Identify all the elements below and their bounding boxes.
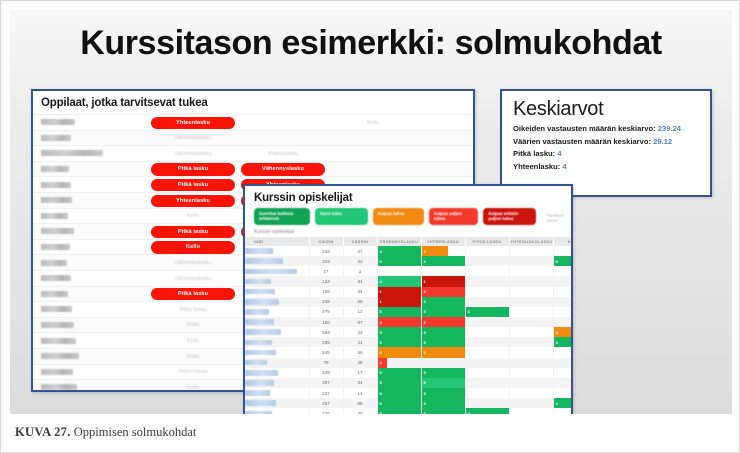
grade-bar: 5 [422,398,465,408]
table-row[interactable]: 1344441 [245,276,573,286]
student-name-redacted [41,353,79,359]
students-panel: Kurssin opiskelijat Suoritus kaikista te… [243,184,573,414]
filter-button[interactable]: Kaipaa tukea [373,208,424,225]
grade-bar: 5 [378,337,421,347]
grade-cell [465,327,509,337]
support-topic-badge: Pitkä lasku [151,179,235,191]
support-topic-badge: Vähennyslasku [241,163,325,175]
support-topic-badge: Yhteenlasku [151,117,235,129]
support-topic-cell[interactable]: Pitkä lasku [151,288,235,301]
grade-bar: 5 [554,256,574,266]
student-name-redacted [245,380,274,386]
grade-bar [554,246,556,256]
support-topic-cell: Vähennyslasku [151,148,235,161]
student-name-redacted [245,258,283,264]
average-value: 29.12 [653,137,672,146]
support-topic-badge: Kello [151,241,235,253]
grade-cell: 5 [421,307,465,317]
student-name-cell[interactable] [245,297,309,307]
grade-bar: 3 [422,347,465,357]
grade-cell: 4 [421,297,465,307]
filter-button[interactable]: Hyvä tulos [315,208,368,225]
student-name-redacted [245,248,273,254]
grade-cell: 4 [465,307,509,317]
correct-count-cell: 285 [309,337,343,347]
support-topic-badge: Pitkä lasku [151,163,235,175]
grade-bar [554,358,556,368]
table-row[interactable]: 1506722 [245,317,573,327]
grade-bar: 5 [378,388,421,398]
student-name-cell[interactable] [245,388,309,398]
grade-bar [466,256,468,266]
grade-bar: 5 [422,327,465,337]
grade-bar [466,368,468,378]
table-row[interactable]: 173 [245,266,573,276]
average-line: Yhteenlasku: 4 [502,161,710,174]
correct-count-cell: 242 [309,246,343,256]
grade-bar [554,266,556,276]
grade-cell [509,408,553,414]
support-topic-badge: Pitkä lasku [151,288,235,300]
figure-number: KUVA 27. [15,425,71,439]
student-name-redacted [245,329,281,335]
correct-count-cell: 276 [309,408,343,414]
grade-bar [510,307,512,317]
grade-cell: 4 [421,256,465,266]
grade-bar [510,266,512,276]
grade-cell [465,317,509,327]
table-row[interactable]: 2422743 [245,246,573,256]
student-name-cell[interactable] [245,327,309,337]
grade-bar: 5 [378,307,421,317]
grade-cell: 5 [377,327,421,337]
student-name-redacted [41,291,68,297]
grade-bar [510,276,512,286]
support-topic-badge: Pitkä lasku [151,226,235,238]
grade-cell: 4 [465,408,509,414]
grade-cell: 2 [421,287,465,297]
grade-cell [509,337,553,347]
correct-count-cell: 279 [309,307,343,317]
table-row[interactable]: 56423553 [245,327,573,337]
table-row[interactable]: 2371455 [245,388,573,398]
average-label: Oikeiden vastausten määrän keskiarvo: [513,124,658,133]
filter-bar-note: Tarvitsee tukea [541,208,571,225]
column-header[interactable]: KELLO [553,237,573,246]
table-row[interactable]: 28511554 [245,337,573,347]
student-name-cell[interactable] [245,317,309,327]
student-name-redacted [41,260,67,266]
grade-cell [465,256,509,266]
grade-cell [553,347,573,357]
grade-bar [510,317,512,327]
student-name-redacted [245,319,274,325]
grade-cell [465,297,509,307]
grade-bar: 3 [378,347,421,357]
grade-bar [510,337,512,347]
table-row[interactable]: 2395914 [245,297,573,307]
grade-cell: 5 [377,307,421,317]
grade-bar: 5 [422,337,465,347]
grade-bar: 5 [422,368,465,378]
student-name-redacted [245,370,278,376]
correct-count-cell: 245 [309,347,343,357]
student-name-cell[interactable] [245,378,309,388]
student-name-redacted [41,306,72,312]
page-title: Kurssitason esimerkki: solmukohdat [10,24,732,63]
table-row[interactable]: 79282 [245,358,573,368]
wrong-count-cell: 3 [343,266,377,276]
support-topic-cell[interactable]: Pitkä lasku [151,179,235,192]
grade-bar [466,297,468,307]
student-name-redacted [41,244,70,250]
support-topic-label: Kello [151,322,235,328]
student-name-cell[interactable] [245,276,309,286]
grade-bar [378,266,380,276]
student-name-redacted [41,338,76,344]
students-table-body: 2422743333225451731344441185441223959142… [245,246,573,414]
grade-bar: 5 [378,398,421,408]
grade-bar [510,297,512,307]
support-topic-label: Yhteenlasku [241,151,325,157]
wrong-count-cell: 44 [343,287,377,297]
grade-bar: 2 [422,287,465,297]
average-label: Pitkä lasku: [513,149,557,158]
student-name-redacted [41,213,68,219]
student-name-redacted [41,182,71,188]
support-row: YhteenlaskuKello [33,114,473,130]
grade-bar [510,408,512,414]
support-topic-cell: Kello [151,210,235,223]
grade-bar [466,327,468,337]
support-topic-cell: Kello [151,319,235,332]
support-topic-cell[interactable]: Yhteenlasku [151,194,235,207]
student-name-cell[interactable] [245,307,309,317]
grade-cell [509,256,553,266]
student-name-redacted [41,275,71,281]
grade-cell [509,327,553,337]
column-header[interactable]: YHTEENLASKU [421,237,465,246]
students-table-header: NIMIOIKEINVÄÄRINVÄHENNYSLASKUYHTEENLASKU… [245,237,573,246]
student-name-cell[interactable] [245,398,309,408]
grade-cell: 5 [377,408,421,414]
correct-count-cell: 79 [309,358,343,368]
grade-cell [509,358,553,368]
grade-bar [510,246,512,256]
grade-bar [554,287,556,297]
grade-bar: 2 [378,358,387,368]
support-row: VähennyslaskuYhteenlasku [33,145,473,161]
column-header[interactable]: OIKEIN [309,237,343,246]
table-row[interactable]: 2673455 [245,378,573,388]
filter-button[interactable]: Suoritus kaikista tehtävistä [254,208,310,225]
grade-bar [510,378,512,388]
grade-bar: 5 [422,388,465,398]
grade-cell: 5 [421,378,465,388]
grade-bar [466,347,468,357]
average-line: Pitkä lasku: 4 [502,148,710,161]
grade-bar: 2 [422,317,465,327]
grade-cell [465,398,509,408]
wrong-count-cell: 23 [343,327,377,337]
grade-cell: 3 [377,347,421,357]
student-name-redacted [245,269,297,275]
grade-cell [509,276,553,286]
grade-cell: 4 [377,276,421,286]
student-name-redacted [41,119,75,125]
student-name-redacted [41,150,103,156]
grade-bar [510,398,512,408]
grade-cell [509,246,553,256]
grade-cell [465,347,509,357]
wrong-count-cell: 28 [343,358,377,368]
grade-bar [466,398,468,408]
support-topic-label: Kello [151,354,235,360]
support-topic-label: Vähennyslasku [151,135,235,141]
grade-bar: 4 [422,256,465,266]
wrong-count-cell: 27 [343,246,377,256]
support-topic-label: Kello [331,120,415,126]
grade-cell [421,358,465,368]
support-topic-cell[interactable]: Pitkä lasku [151,226,235,239]
students-subcaption: Kurssin opiskelijat [245,225,571,237]
support-topic-label: Vähennyslasku [151,260,235,266]
student-name-cell[interactable] [245,246,309,256]
grade-bar: 5 [422,378,465,388]
grade-bar: 3 [554,327,574,337]
grade-cell [465,388,509,398]
grade-cell [465,358,509,368]
student-name-redacted [245,390,270,396]
grade-cell [509,378,553,388]
grade-bar [510,327,512,337]
wrong-count-cell: 17 [343,368,377,378]
grade-cell [553,307,573,317]
student-name-redacted [245,299,279,305]
student-name-redacted [41,228,74,234]
grade-bar: 4 [378,276,421,286]
grade-cell [509,368,553,378]
table-row[interactable]: 26756554 [245,398,573,408]
student-name-cell[interactable] [245,347,309,357]
student-name-cell[interactable] [245,337,309,347]
grade-bar [466,337,468,347]
correct-count-cell: 185 [309,287,343,297]
student-name-cell[interactable] [245,368,309,378]
grade-cell: 5 [377,256,421,266]
support-topic-cell: Pitkä lasku [151,304,235,317]
slide-canvas: Kurssitason esimerkki: solmukohdat Oppil… [10,10,732,414]
student-name-redacted [245,411,272,414]
grade-cell: 4 [553,337,573,347]
grade-cell: 3 [553,327,573,337]
grade-bar [554,317,556,327]
grade-bar: 5 [378,327,421,337]
grade-cell: 5 [377,388,421,398]
grade-bar [510,347,512,357]
grade-cell [509,347,553,357]
grade-bar [554,388,556,398]
support-topic-cell: Kello [151,381,235,392]
grade-cell [553,246,573,256]
grade-bar: 4 [378,246,421,256]
support-topic-cell: Vähennyslasku [151,132,235,145]
column-header[interactable]: NIMI [245,237,309,246]
grade-cell [553,317,573,327]
support-topic-cell: Kello [151,335,235,348]
support-topic-label: Vähennyslasku [151,151,235,157]
support-topic-cell: Kello [331,116,415,129]
table-row[interactable]: 27912554 [245,307,573,317]
student-name-cell[interactable] [245,287,309,297]
correct-count-cell: 333 [309,256,343,266]
correct-count-cell: 237 [309,388,343,398]
wrong-count-cell: 22 [343,256,377,266]
support-topic-label: Kello [151,385,235,391]
grade-cell: 5 [421,327,465,337]
grade-cell [465,246,509,256]
table-row[interactable]: 27638554 [245,408,573,414]
column-header[interactable]: YHTEISJAKOLASKU [509,237,553,246]
grade-cell [509,398,553,408]
grade-cell [465,337,509,347]
grade-bar: 3 [422,246,449,256]
grade-cell: 5 [377,378,421,388]
grade-cell: 2 [377,358,421,368]
column-header[interactable]: PITKÄ LASKU [465,237,509,246]
grade-bar: 4 [554,337,574,347]
grade-bar [554,297,556,307]
grade-cell: 5 [421,398,465,408]
grade-bar [554,347,556,357]
grade-cell: 4 [377,246,421,256]
student-name-cell[interactable] [245,408,309,414]
support-row: Vähennyslasku [33,130,473,146]
grade-bar [466,378,468,388]
student-name-redacted [41,322,74,328]
student-name-redacted [245,289,275,295]
correct-count-cell: 239 [309,297,343,307]
support-topic-cell: Kello [151,350,235,363]
grade-bar: 5 [378,408,421,414]
grade-cell: 5 [421,388,465,398]
grade-cell: 4 [553,398,573,408]
grade-cell: 2 [377,317,421,327]
average-value: 4 [557,149,561,158]
student-name-cell[interactable] [245,266,309,276]
support-topic-cell[interactable]: Pitkä lasku [151,163,235,176]
student-name-redacted [245,279,271,285]
grade-bar [554,368,556,378]
support-topic-cell[interactable]: Yhteenlasku [151,116,235,129]
table-row[interactable]: 1854412 [245,287,573,297]
grade-cell [421,266,465,276]
support-topic-label: Pitkä lasku [151,307,235,313]
wrong-count-cell: 44 [343,276,377,286]
grade-bar [554,378,556,388]
grade-bar [466,276,468,286]
grade-cell [553,378,573,388]
correct-count-cell: 150 [309,317,343,327]
student-name-redacted [41,135,71,141]
support-topic-cell: Vähennyslasku [151,272,235,285]
grade-bar [510,287,512,297]
grade-bar [466,317,468,327]
figure-caption: KUVA 27. Oppimisen solmukohdat [15,425,196,440]
student-name-redacted [245,350,276,356]
column-header[interactable]: VÄHENNYSLASKU [377,237,421,246]
students-table: NIMIOIKEINVÄÄRINVÄHENNYSLASKUYHTEENLASKU… [245,237,573,414]
grade-bar: 5 [422,307,465,317]
grade-cell [465,287,509,297]
grade-cell: 5 [421,368,465,378]
grade-bar: 5 [422,408,465,414]
student-name-redacted [41,197,72,203]
student-name-redacted [245,340,272,346]
filter-button[interactable]: Kaipaa erittäin paljon tukea [483,208,536,225]
grade-bar: 5 [378,368,421,378]
grade-cell: 5 [553,256,573,266]
correct-count-cell: 134 [309,276,343,286]
grade-bar [466,358,468,368]
grade-cell: 1 [421,276,465,286]
table-row[interactable]: 33322545 [245,256,573,266]
wrong-count-cell: 14 [343,388,377,398]
table-row[interactable]: 2455633 [245,347,573,357]
support-topic-cell: Yhteenlasku [241,148,325,161]
correct-count-cell: 267 [309,378,343,388]
grade-bar [422,358,424,368]
support-topic-cell[interactable]: Vähennyslasku [241,163,325,176]
support-topic-cell[interactable]: Kello [151,241,235,254]
support-row: Pitkä laskuVähennyslasku [33,161,473,177]
average-line: Oikeiden vastausten määrän keskiarvo: 23… [502,123,710,136]
grade-bar [466,388,468,398]
grade-bar: 1 [378,297,421,307]
column-header[interactable]: VÄÄRIN [343,237,377,246]
averages-panel: Keskiarvot Oikeiden vastausten määrän ke… [500,89,712,197]
support-topic-cell: Vähennyslasku [151,257,235,270]
support-topic-label: Yhteenlasku [151,369,235,375]
support-topic-label: Vähennyslasku [151,276,235,282]
grade-cell: 3 [421,246,465,256]
average-line: Väärien vastausten määrän keskiarvo: 29.… [502,136,710,149]
correct-count-cell: 17 [309,266,343,276]
grade-cell [465,276,509,286]
grade-bar [510,388,512,398]
student-name-cell[interactable] [245,256,309,266]
grade-cell [553,287,573,297]
student-name-redacted [41,384,77,390]
average-value: 4 [562,162,566,171]
grade-cell: 1 [377,297,421,307]
students-panel-title: Kurssin opiskelijat [245,186,571,208]
grade-cell [553,368,573,378]
grade-cell: 2 [421,317,465,327]
table-row[interactable]: 2481755 [245,368,573,378]
grade-cell [553,358,573,368]
grade-cell [509,287,553,297]
wrong-count-cell: 11 [343,337,377,347]
grade-bar [466,266,468,276]
filter-button[interactable]: Kaipaa paljon tukea [429,208,478,225]
averages-lines-container: Oikeiden vastausten määrän keskiarvo: 23… [502,123,710,173]
grade-bar [554,307,556,317]
student-name-cell[interactable] [245,358,309,368]
wrong-count-cell: 12 [343,307,377,317]
wrong-count-cell: 34 [343,378,377,388]
grade-cell: 5 [377,398,421,408]
